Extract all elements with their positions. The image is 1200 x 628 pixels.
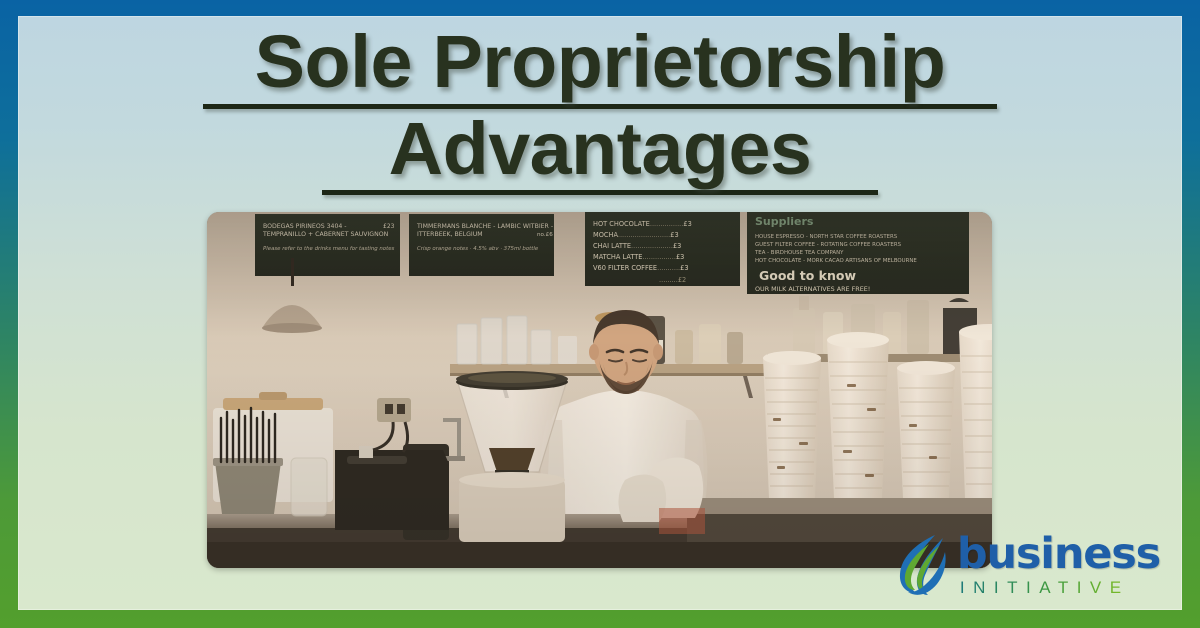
logo-word-business: business bbox=[957, 533, 1160, 576]
poster-canvas: Sole Proprietorship Advantages bbox=[18, 16, 1182, 610]
headline-underline-2 bbox=[322, 190, 878, 195]
headline-line-1: Sole Proprietorship bbox=[18, 22, 1182, 102]
poster-frame: Sole Proprietorship Advantages bbox=[0, 0, 1200, 628]
leaf-flame-icon bbox=[891, 532, 953, 596]
business-initiative-logo[interactable]: business INITIATIVE bbox=[891, 532, 1160, 596]
coffee-shop-photo: BODEGAS PIRINEOS 3404 - TEMPRANILLO + CA… bbox=[207, 212, 992, 568]
logo-word-initiative: INITIATIVE bbox=[960, 579, 1160, 596]
logo-wordmark: business INITIATIVE bbox=[957, 533, 1160, 596]
headline-line-2: Advantages bbox=[18, 109, 1182, 189]
page-title: Sole Proprietorship Advantages bbox=[18, 22, 1182, 195]
photo-illustration: BODEGAS PIRINEOS 3404 - TEMPRANILLO + CA… bbox=[207, 212, 992, 568]
logo-mark-svg bbox=[891, 532, 953, 596]
